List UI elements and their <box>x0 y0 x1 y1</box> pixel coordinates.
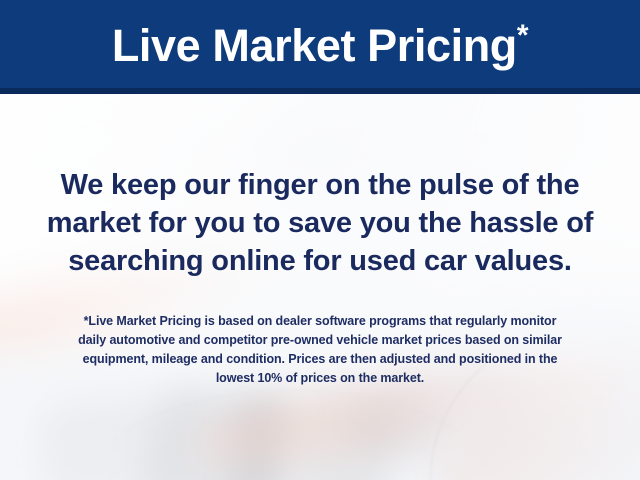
disclaimer-line: daily automotive and competitor pre-owne… <box>0 331 640 350</box>
header-band: Live Market Pricing* <box>0 0 640 94</box>
disclaimer-block: *Live Market Pricing is based on dealer … <box>0 312 640 388</box>
disclaimer-line: lowest 10% of prices on the market. <box>0 369 640 388</box>
disclaimer-line: *Live Market Pricing is based on dealer … <box>0 312 640 331</box>
headline-line: We keep our finger on the pulse of the <box>0 166 640 204</box>
page-title-asterisk: * <box>517 19 528 52</box>
page-title-text: Live Market Pricing <box>112 20 517 71</box>
headline-line: market for you to save you the hassle of <box>0 204 640 242</box>
headline-line: searching online for used car values. <box>0 242 640 280</box>
headline-block: We keep our finger on the pulse of the m… <box>0 166 640 280</box>
live-market-pricing-banner: Live Market Pricing* We keep our finger … <box>0 0 640 480</box>
disclaimer-line: equipment, mileage and condition. Prices… <box>0 350 640 369</box>
page-title: Live Market Pricing* <box>112 23 528 72</box>
banner-content: We keep our finger on the pulse of the m… <box>0 94 640 480</box>
